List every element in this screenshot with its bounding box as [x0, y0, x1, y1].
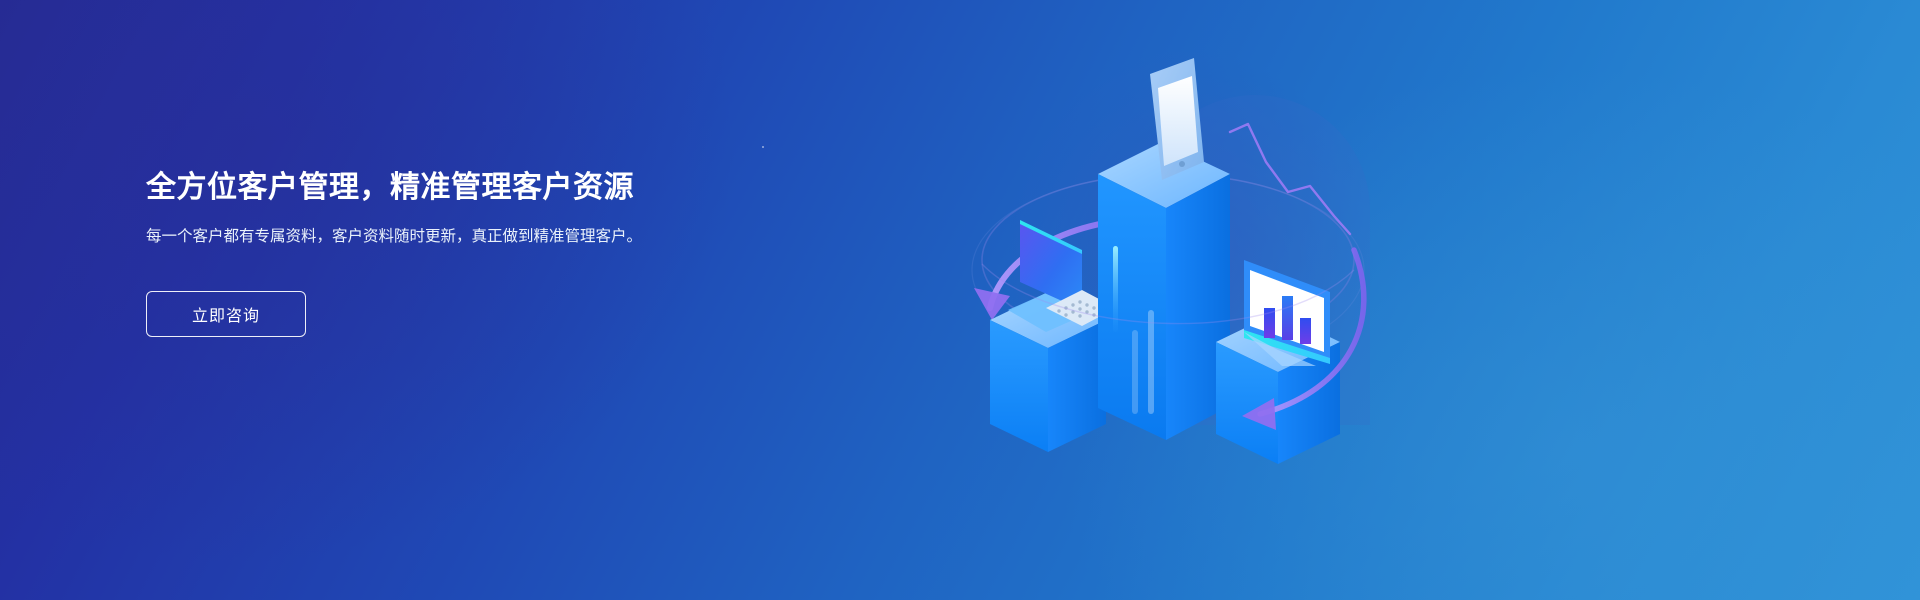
- pillar-center: [1098, 142, 1230, 440]
- page-title: 全方位客户管理，精准管理客户资源: [146, 168, 786, 207]
- cta-container: 立即咨询: [146, 291, 786, 337]
- hero-subtitle: 每一个客户都有专属资料，客户资料随时更新，真正做到精准管理客户。: [146, 225, 746, 249]
- consult-now-button[interactable]: 立即咨询: [146, 291, 306, 337]
- hero-banner: 全方位客户管理，精准管理客户资源 每一个客户都有专属资料，客户资料随时更新，真正…: [0, 0, 1920, 600]
- decorative-dot: [762, 146, 764, 148]
- hero-illustration: [930, 20, 1400, 490]
- hero-copy: 全方位客户管理，精准管理客户资源 每一个客户都有专属资料，客户资料随时更新，真正…: [146, 168, 786, 337]
